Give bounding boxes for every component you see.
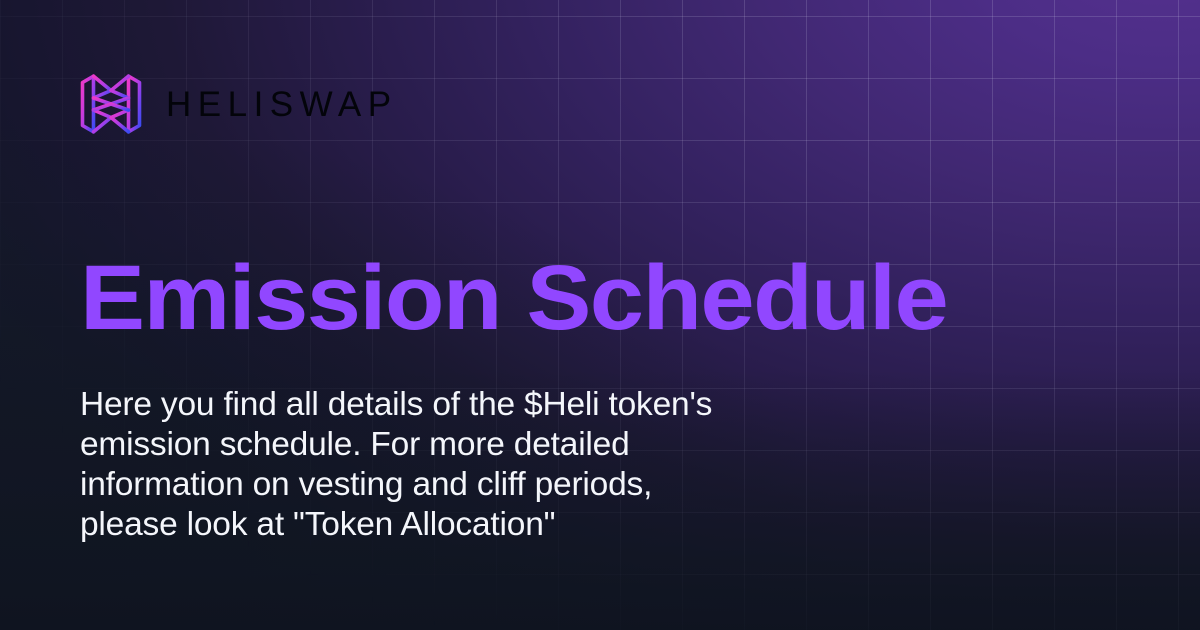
description-line-4: please look at "Token Allocation" <box>80 505 900 545</box>
description-line-2: emission schedule. For more detailed <box>80 425 900 465</box>
brand-lockup[interactable]: HELISWAP <box>78 68 398 140</box>
page-title: Emission Schedule <box>80 252 947 344</box>
card-content: HELISWAP Emission Schedule Here you find… <box>0 0 1200 630</box>
brand-wordmark: HELISWAP <box>166 87 398 122</box>
description-line-1: Here you find all details of the $Heli t… <box>80 385 900 425</box>
share-card-canvas: HELISWAP Emission Schedule Here you find… <box>0 0 1200 630</box>
page-description: Here you find all details of the $Heli t… <box>80 385 900 545</box>
heliswap-hexagon-logo-icon <box>78 68 144 140</box>
description-line-3: information on vesting and cliff periods… <box>80 465 900 505</box>
